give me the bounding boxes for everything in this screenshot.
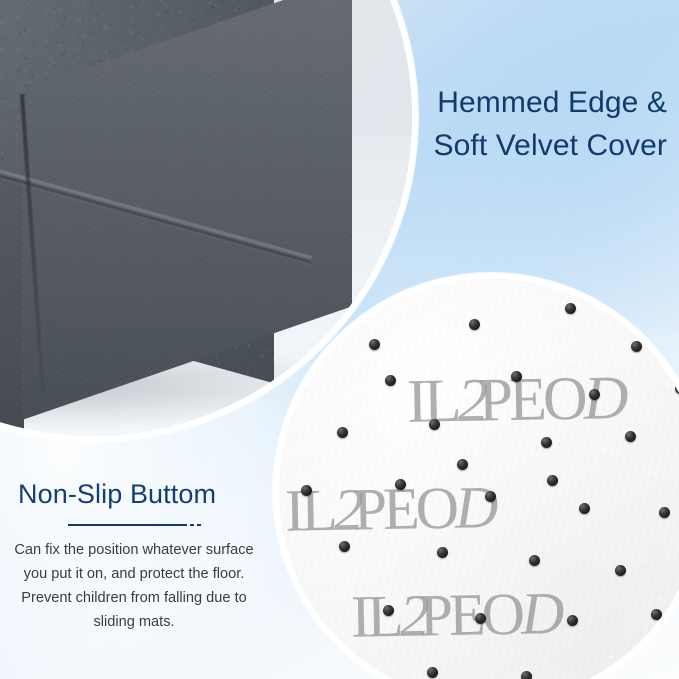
grip-dot bbox=[547, 475, 558, 486]
brandmark-print: IL2PEOD bbox=[350, 579, 555, 652]
grip-dot bbox=[385, 375, 396, 386]
grip-dot bbox=[675, 383, 679, 394]
grip-dot bbox=[457, 459, 468, 470]
grip-dot bbox=[579, 503, 590, 514]
grip-dot bbox=[369, 339, 380, 350]
divider-dash bbox=[190, 524, 194, 526]
grip-dot bbox=[383, 605, 394, 616]
grip-dot bbox=[437, 547, 448, 558]
grip-dot bbox=[567, 615, 578, 626]
feature-title: Non-Slip Buttom bbox=[8, 478, 260, 510]
feature-body-text: Can fix the position whatever surface yo… bbox=[8, 539, 260, 634]
grip-dot bbox=[609, 665, 620, 676]
grip-dot bbox=[511, 371, 522, 382]
grip-dot bbox=[529, 555, 540, 566]
grip-dot bbox=[427, 667, 438, 678]
grip-dot bbox=[429, 419, 440, 430]
feature-block: Non-Slip Buttom Can fix the position wha… bbox=[8, 478, 260, 635]
non-slip-scene: IL2PEOD IL2PEOD IL2PEOD bbox=[279, 279, 679, 679]
grip-dot bbox=[651, 609, 662, 620]
grip-dot bbox=[335, 657, 346, 668]
grip-dot bbox=[485, 491, 496, 502]
headline-line-1: Hemmed Edge & bbox=[337, 82, 667, 125]
feature-divider bbox=[8, 524, 260, 526]
divider-dash bbox=[197, 524, 201, 526]
grip-dot bbox=[659, 507, 670, 518]
brandmark-print: IL2PEOD bbox=[284, 473, 489, 546]
grip-dot bbox=[301, 485, 312, 496]
grip-dot bbox=[339, 541, 350, 552]
grip-dot bbox=[615, 565, 626, 576]
grip-dot bbox=[565, 303, 576, 314]
grip-dot bbox=[521, 671, 532, 679]
grip-dot bbox=[541, 437, 552, 448]
grip-dot bbox=[475, 613, 486, 624]
headline-line-2: Soft Velvet Cover bbox=[337, 125, 667, 168]
grip-dot bbox=[631, 341, 642, 352]
grip-dot bbox=[337, 427, 348, 438]
grip-dot bbox=[469, 319, 480, 330]
grip-dot bbox=[295, 597, 306, 608]
grip-dot bbox=[625, 431, 636, 442]
divider-rule bbox=[68, 524, 187, 526]
grip-dot bbox=[589, 389, 600, 400]
product-feature-graphic: IL2PEOD IL2PEOD IL2PEOD Hemmed Edge & So… bbox=[0, 0, 679, 679]
grip-dot bbox=[395, 479, 406, 490]
headline: Hemmed Edge & Soft Velvet Cover bbox=[337, 82, 667, 167]
non-slip-backing-photo: IL2PEOD IL2PEOD IL2PEOD bbox=[273, 273, 679, 679]
